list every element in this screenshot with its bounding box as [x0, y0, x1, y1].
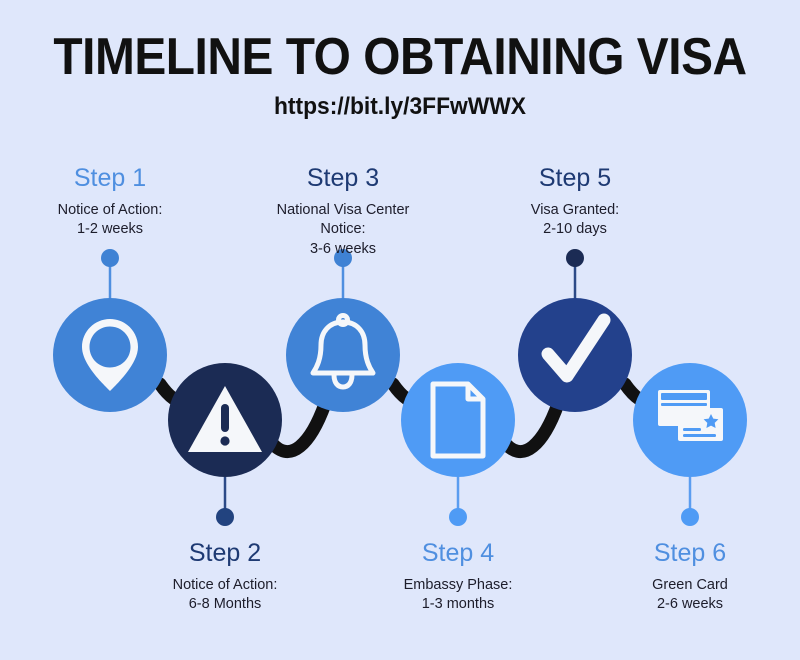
dot-6: [681, 508, 699, 526]
step-4-circle[interactable]: [401, 363, 515, 477]
step-5-node[interactable]: [518, 298, 632, 412]
step-4-desc: Embassy Phase: 1-3 months: [343, 576, 573, 615]
step-2-heading: Step 2: [110, 540, 340, 568]
step-4-label-block: Step 4 Embassy Phase: 1-3 months: [343, 540, 573, 615]
step-3-desc-line-2: Notice:: [228, 220, 458, 240]
step-2-node[interactable]: [168, 363, 282, 477]
step-5-desc-line-1: Visa Granted:: [460, 201, 690, 221]
step-2-desc: Notice of Action: 6-8 Months: [110, 576, 340, 615]
step-2-desc-line-2: 6-8 Months: [110, 595, 340, 615]
step-5-heading: Step 5: [460, 165, 690, 193]
step-5-label-block: Step 5 Visa Granted: 2-10 days: [460, 165, 690, 240]
step-6-label-block: Step 6 Green Card 2-6 weeks: [575, 540, 800, 615]
step-3-desc-line-1: National Visa Center: [228, 201, 458, 221]
step-5-desc: Visa Granted: 2-10 days: [460, 201, 690, 240]
step-4-heading: Step 4: [343, 540, 573, 568]
step-6-desc-line-1: Green Card: [575, 576, 800, 596]
step-3-node[interactable]: [286, 298, 400, 412]
step-3-heading: Step 3: [228, 165, 458, 193]
step-1-node[interactable]: [53, 298, 167, 412]
step-2-label-block: Step 2 Notice of Action: 6-8 Months: [110, 540, 340, 615]
step-4-desc-line-1: Embassy Phase:: [343, 576, 573, 596]
step-4-node[interactable]: [401, 363, 515, 477]
step-6-node[interactable]: [633, 363, 747, 477]
step-6-desc: Green Card 2-6 weeks: [575, 576, 800, 615]
dot-5: [566, 249, 584, 267]
step-1-circle[interactable]: [53, 298, 167, 412]
dot-1: [101, 249, 119, 267]
step-1-desc-line-1: Notice of Action:: [0, 201, 225, 221]
step-6-desc-line-2: 2-6 weeks: [575, 595, 800, 615]
step-4-desc-line-2: 1-3 months: [343, 595, 573, 615]
step-1-desc-line-2: 1-2 weeks: [0, 220, 225, 240]
step-5-desc-line-2: 2-10 days: [460, 220, 690, 240]
step-1-label-block: Step 1 Notice of Action: 1-2 weeks: [0, 165, 225, 240]
visa-timeline-infographic: TIMELINE TO OBTAINING VISA https://bit.l…: [0, 0, 800, 660]
step-6-heading: Step 6: [575, 540, 800, 568]
step-1-heading: Step 1: [0, 165, 225, 193]
step-3-label-block: Step 3 National Visa Center Notice: 3-6 …: [228, 165, 458, 259]
dot-4: [449, 508, 467, 526]
step-1-desc: Notice of Action: 1-2 weeks: [0, 201, 225, 240]
step-2-desc-line-1: Notice of Action:: [110, 576, 340, 596]
step-3-desc-line-3: 3-6 weeks: [228, 240, 458, 260]
dot-2: [216, 508, 234, 526]
step-3-desc: National Visa Center Notice: 3-6 weeks: [228, 201, 458, 260]
